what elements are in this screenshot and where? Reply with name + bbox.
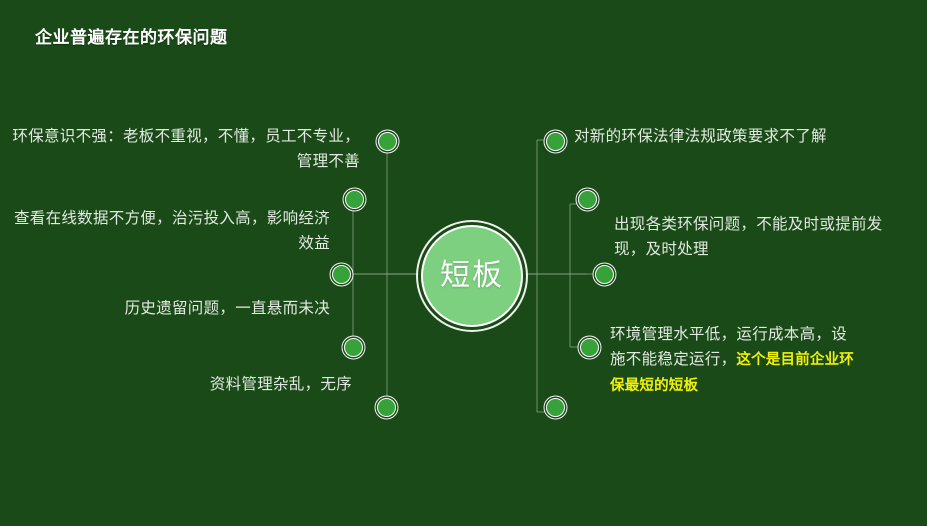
bullet-left-5[interactable] [377,398,396,417]
bullet-left-1[interactable] [378,132,397,151]
branch-text-right-4: 环境管理水平低，运行成本高，设施不能稳定运行，这个是目前企业环保最短的短板 [610,322,862,398]
slide-canvas: 企业普遍存在的环保问题 短板 [0,0,927,526]
bullet-left-4[interactable] [344,338,363,357]
branch-text-left-1: 环保意识不强：老板不重视，不懂，员工不专业，管理不善 [0,124,360,174]
center-node[interactable]: 短板 [421,225,523,327]
branch-text-left-3: 历史遗留问题，一直悬而未决 [0,296,330,321]
center-node-label: 短板 [440,261,504,291]
bullet-right-2[interactable] [578,190,597,209]
bullet-left-3[interactable] [332,265,351,284]
branch-text-left-2: 查看在线数据不方便，治污投入高，影响经济效益 [0,206,330,256]
branch-text-right-1: 对新的环保法律法规政策要求不了解 [574,124,914,149]
bullet-right-4[interactable] [580,338,599,357]
bullet-right-1[interactable] [546,132,565,151]
bullet-right-3[interactable] [595,265,614,284]
branch-text-right-2: 出现各类环保问题，不能及时或提前发现，及时处理 [614,212,886,262]
bullet-right-5[interactable] [546,398,565,417]
branch-text-left-4: 资料管理杂乱，无序 [0,372,352,397]
bullet-left-2[interactable] [345,190,364,209]
